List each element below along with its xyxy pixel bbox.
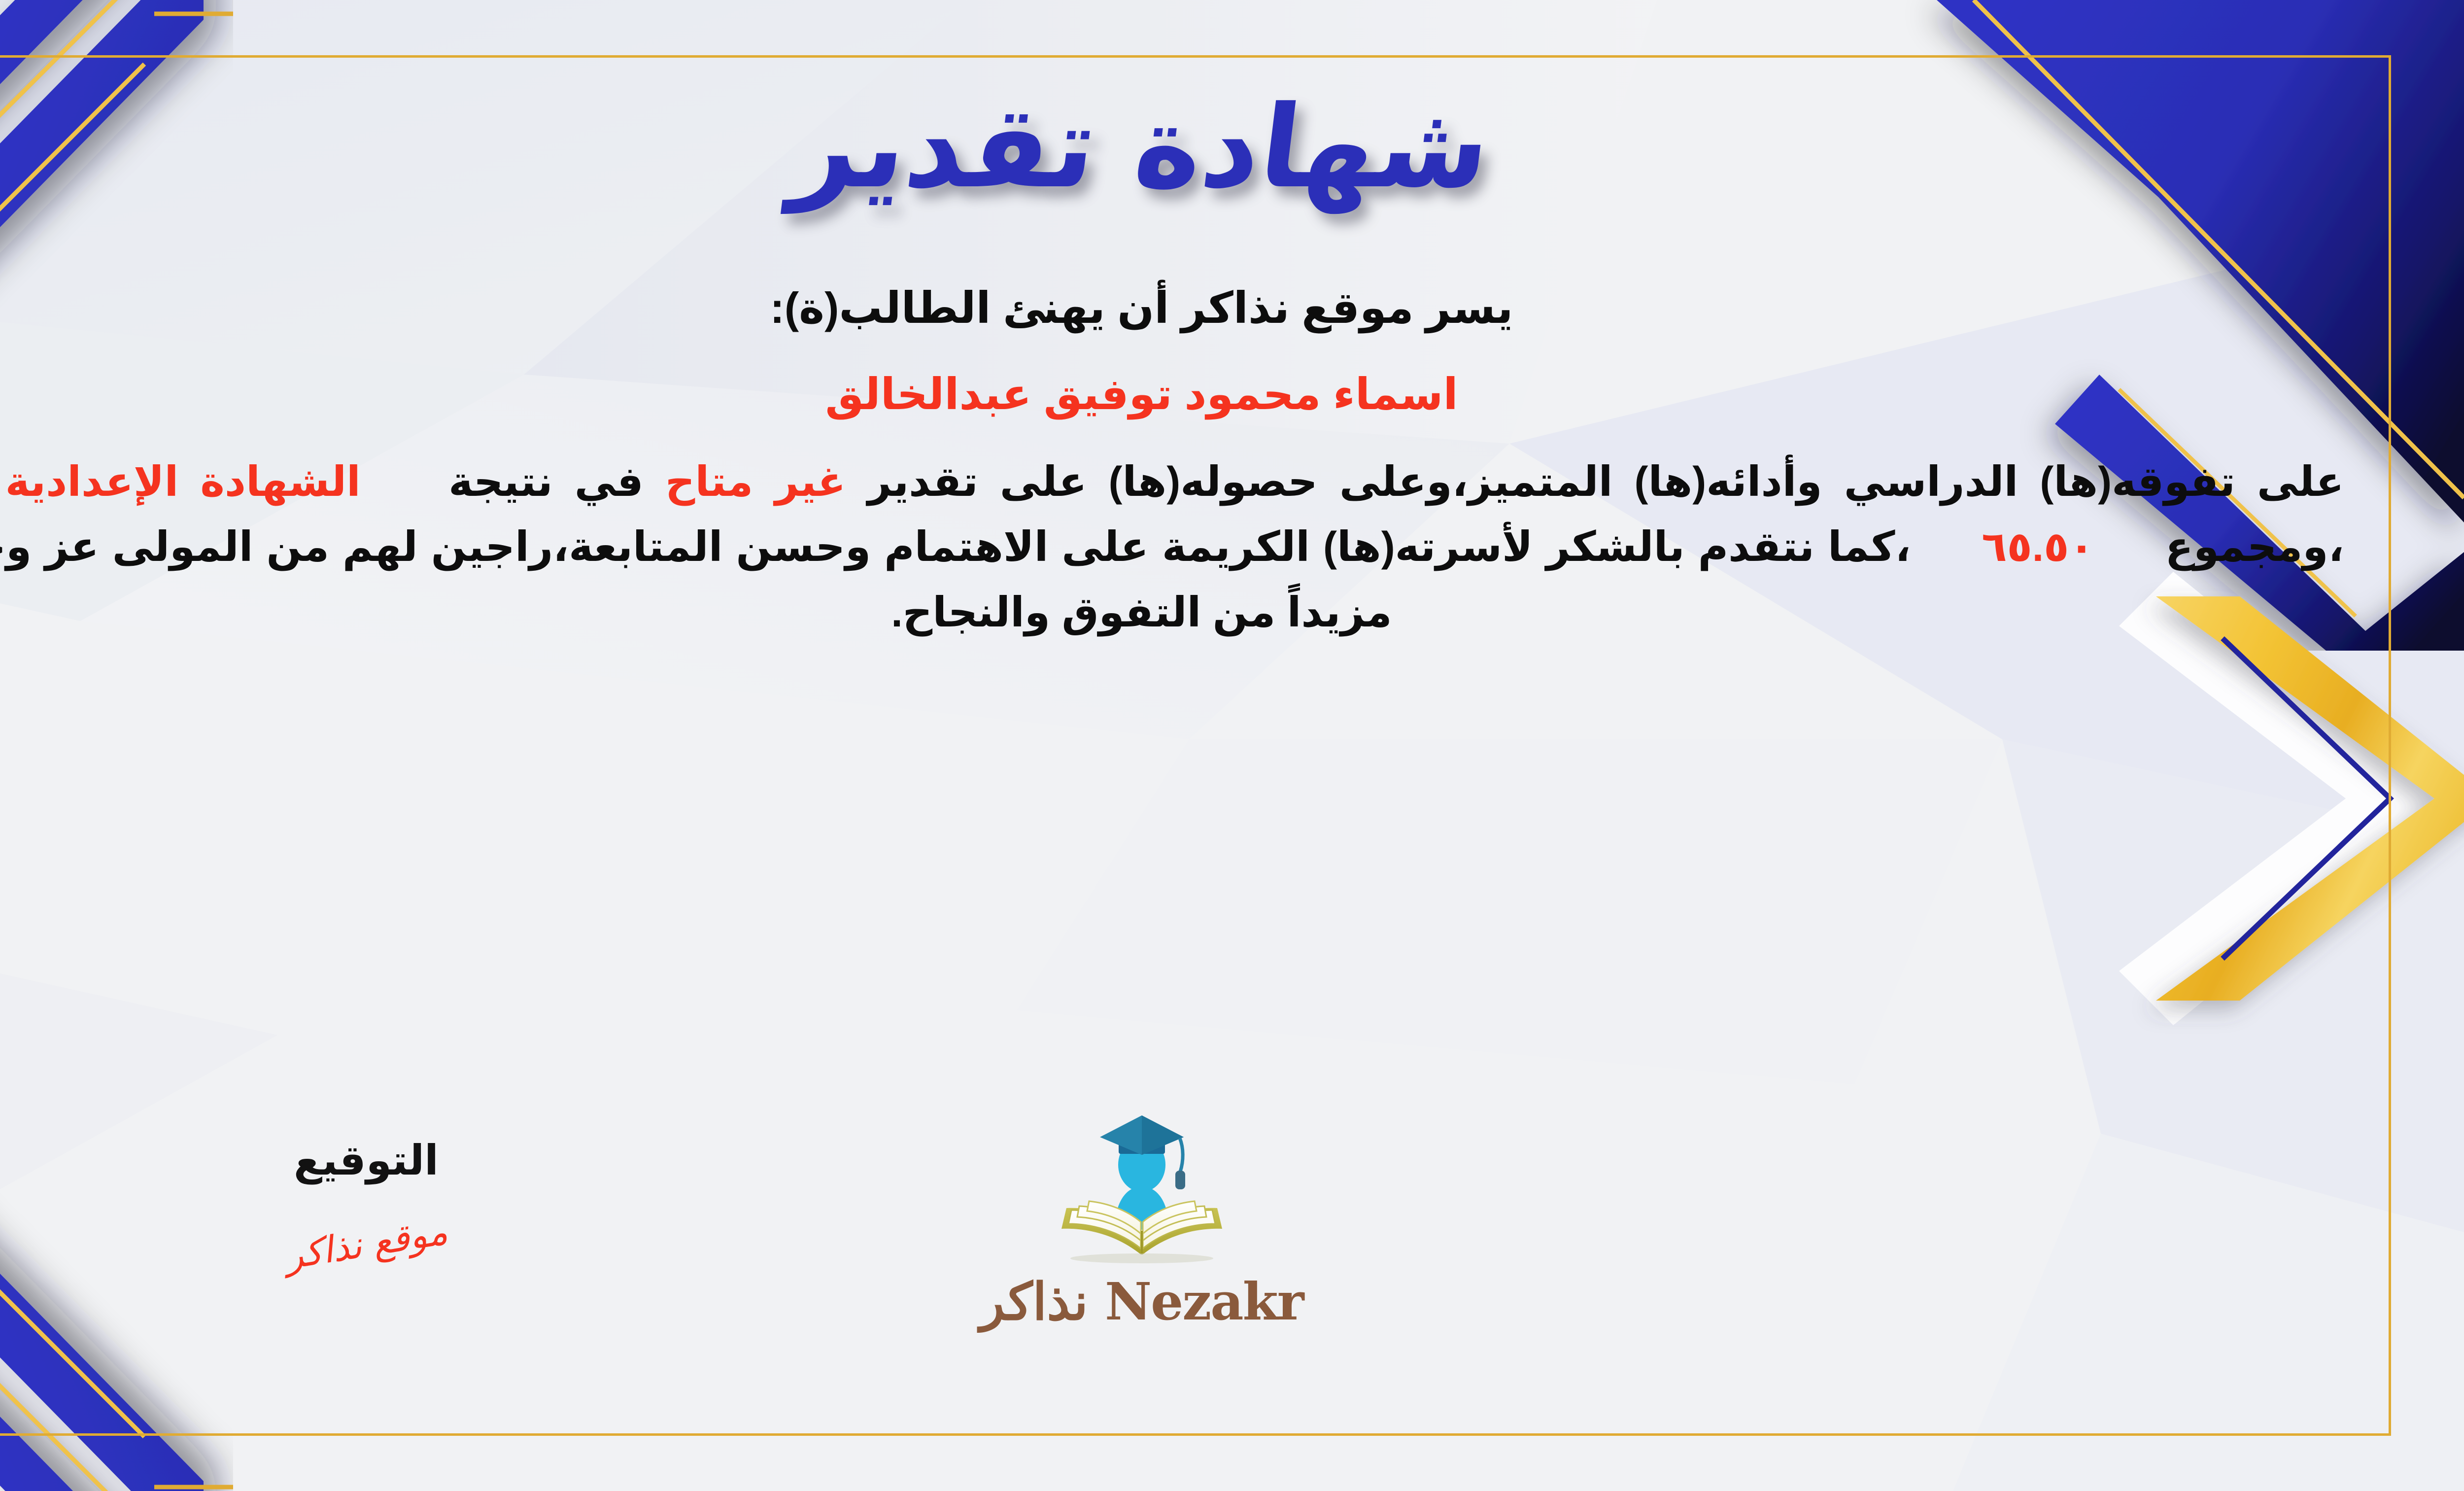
title-area: شهادة تقدير — [0, 74, 2370, 222]
certificate-page: شهادة تقدير يسر موقع نذاكر أن يهنئ الطال… — [0, 0, 2464, 1491]
student-name: اسماء محمود توفيق عبدالخالق — [0, 369, 2370, 419]
brand-logo: Nezakr نذاكر — [955, 1107, 1329, 1332]
paragraph-segment-3: ،ومجموع — [2165, 523, 2344, 570]
paragraph-segment-1: على تفوقه(ها) الدراسي وأدائه(ها) المتميز… — [867, 458, 2344, 505]
certificate-content: شهادة تقدير يسر موقع نذاكر أن يهنئ الطال… — [0, 69, 2370, 1427]
signature-mark: موقع نذاكر — [282, 1211, 450, 1278]
signature-label: التوقيع — [228, 1136, 504, 1184]
congratulation-line: يسر موقع نذاكر أن يهنئ الطالب(ة): — [0, 275, 2370, 341]
achievement-paragraph: على تفوقه(ها) الدراسي وأدائه(ها) المتميز… — [0, 449, 2344, 645]
body-area: يسر موقع نذاكر أن يهنئ الطالب(ة): اسماء … — [0, 275, 2370, 645]
total-score: ٦٥.٥٠ — [1982, 523, 2094, 570]
logo-wordmark: Nezakr نذاكر — [955, 1271, 1329, 1332]
graduation-book-logo-icon — [1036, 1107, 1248, 1269]
page-title: شهادة تقدير — [787, 91, 1497, 205]
grade-value: غير متاح — [665, 458, 846, 505]
paragraph-segment-2: في نتيجة — [448, 458, 644, 505]
exam-name: الشهادة الإعدادية — [5, 458, 361, 505]
signature-area: التوقيع موقع نذاكر — [228, 1136, 504, 1265]
certificate-footer: التوقيع موقع نذاكر — [0, 1107, 2370, 1402]
paragraph-segment-4: ،كما نتقدم بالشكر لأسرته(ها) الكريمة على… — [0, 523, 1911, 635]
